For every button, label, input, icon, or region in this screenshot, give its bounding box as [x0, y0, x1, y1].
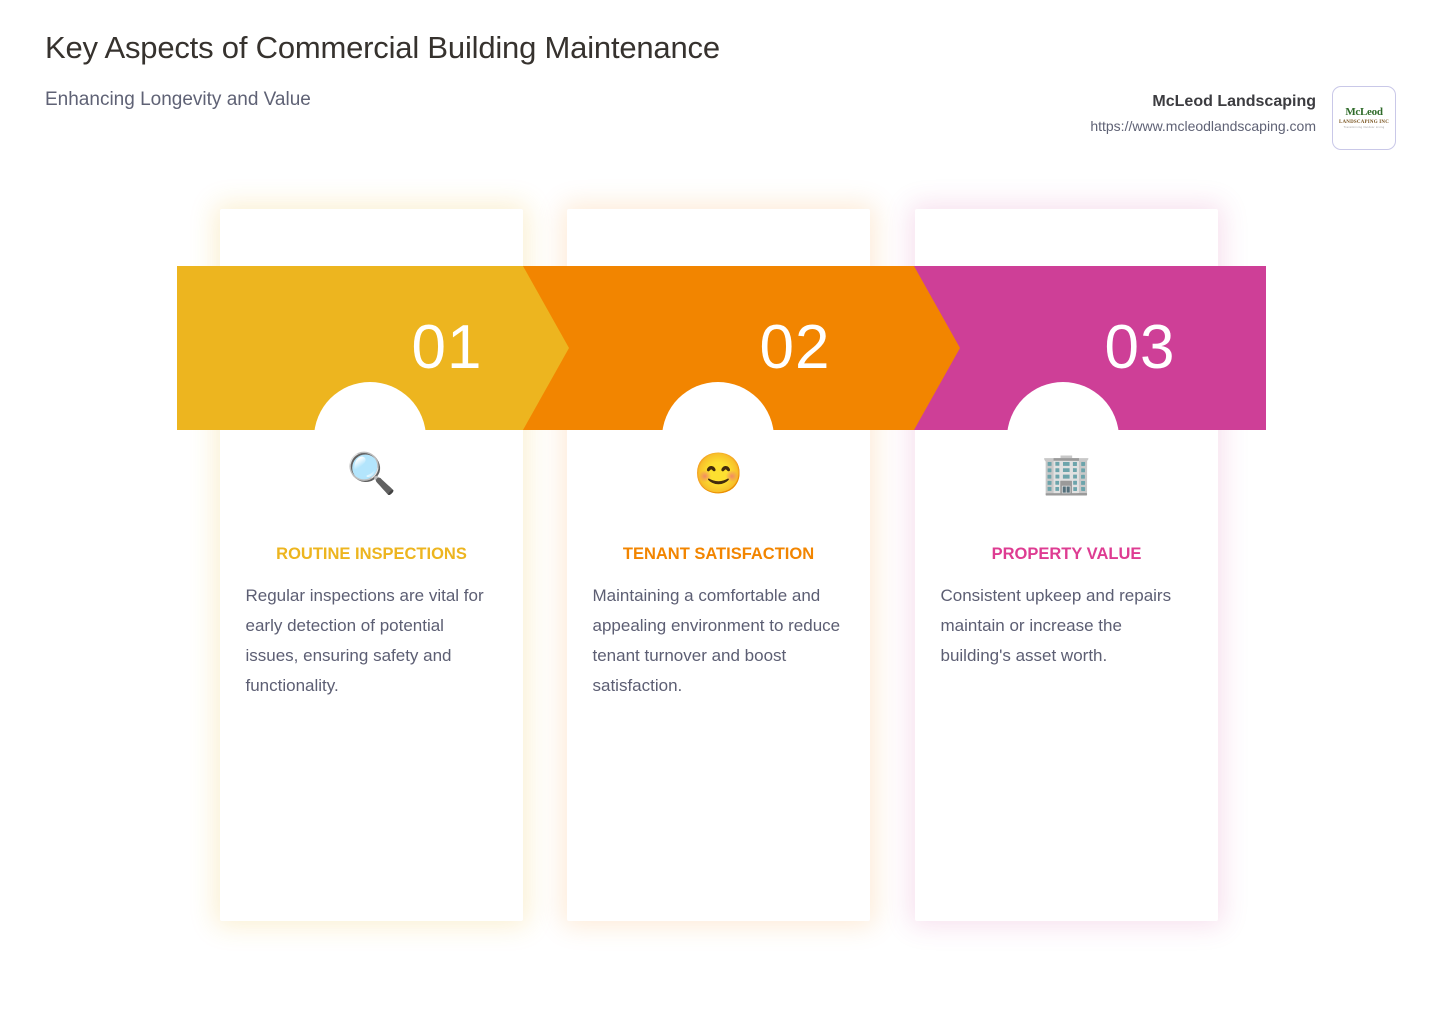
step-body-3: Consistent upkeep and repairs maintain o… — [941, 581, 1193, 671]
chevron-banner: 01 02 03 — [177, 266, 1266, 430]
smiling-face-icon: 😊 — [694, 451, 744, 497]
step-heading-1: ROUTINE INSPECTIONS — [246, 539, 498, 569]
step-number-1: 01 — [372, 266, 522, 430]
step-heading-2: TENANT SATISFACTION — [593, 539, 845, 569]
step-number-2: 02 — [720, 266, 870, 430]
step-body-2: Maintaining a comfortable and appealing … — [593, 581, 845, 701]
step-body-1: Regular inspections are vital for early … — [246, 581, 498, 701]
step-heading-3: PROPERTY VALUE — [941, 539, 1193, 569]
step-number-3: 03 — [1065, 266, 1215, 430]
office-building-icon: 🏢 — [1042, 451, 1092, 497]
magnifying-glass-icon: 🔍 — [347, 451, 397, 497]
infographic-stage: 🔍 ROUTINE INSPECTIONS Regular inspection… — [0, 0, 1440, 1024]
